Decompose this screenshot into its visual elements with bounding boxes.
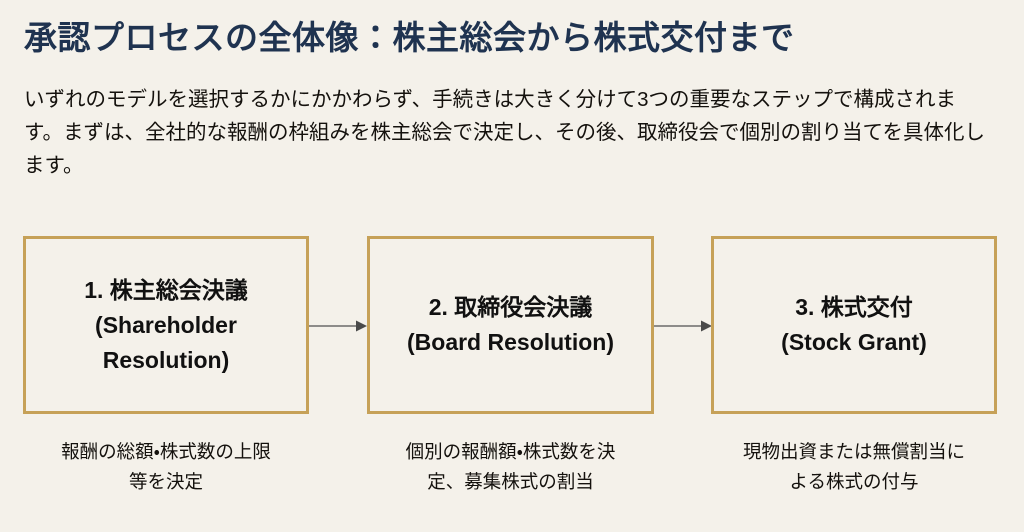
arrow-step1-to-step2-icon xyxy=(309,318,367,334)
slide-canvas: 承認プロセスの全体像：株主総会から株式交付まで いずれのモデルを選択するかにかか… xyxy=(0,0,1024,532)
lead-paragraph: いずれのモデルを選択するかにかかわらず、手続きは大きく分けて3つの重要なステップ… xyxy=(24,83,992,182)
process-step-caption-3: 現物出資または無償割当に よる株式の付与 xyxy=(701,437,1007,497)
process-step-label-1: 1. 株主総会決議 (Shareholder Resolution) xyxy=(76,273,256,378)
process-step-box-2: 2. 取締役会決議 (Board Resolution) xyxy=(367,236,654,414)
arrow-step2-to-step3-icon xyxy=(654,318,712,334)
process-step-caption-2: 個別の報酬額・株式数を決 定、募集株式の割当 xyxy=(357,437,664,497)
process-step-box-3: 3. 株式交付 (Stock Grant) xyxy=(711,236,997,414)
process-step-caption-1: 報酬の総額・株式数の上限 等を決定 xyxy=(13,437,319,497)
page-title: 承認プロセスの全体像：株主総会から株式交付まで xyxy=(24,16,1000,60)
process-step-label-2: 2. 取締役会決議 (Board Resolution) xyxy=(399,290,622,360)
process-flow-diagram: 1. 株主総会決議 (Shareholder Resolution) 2. 取締… xyxy=(0,236,1024,414)
process-step-label-3: 3. 株式交付 (Stock Grant) xyxy=(773,290,935,360)
process-step-box-1: 1. 株主総会決議 (Shareholder Resolution) xyxy=(23,236,309,414)
